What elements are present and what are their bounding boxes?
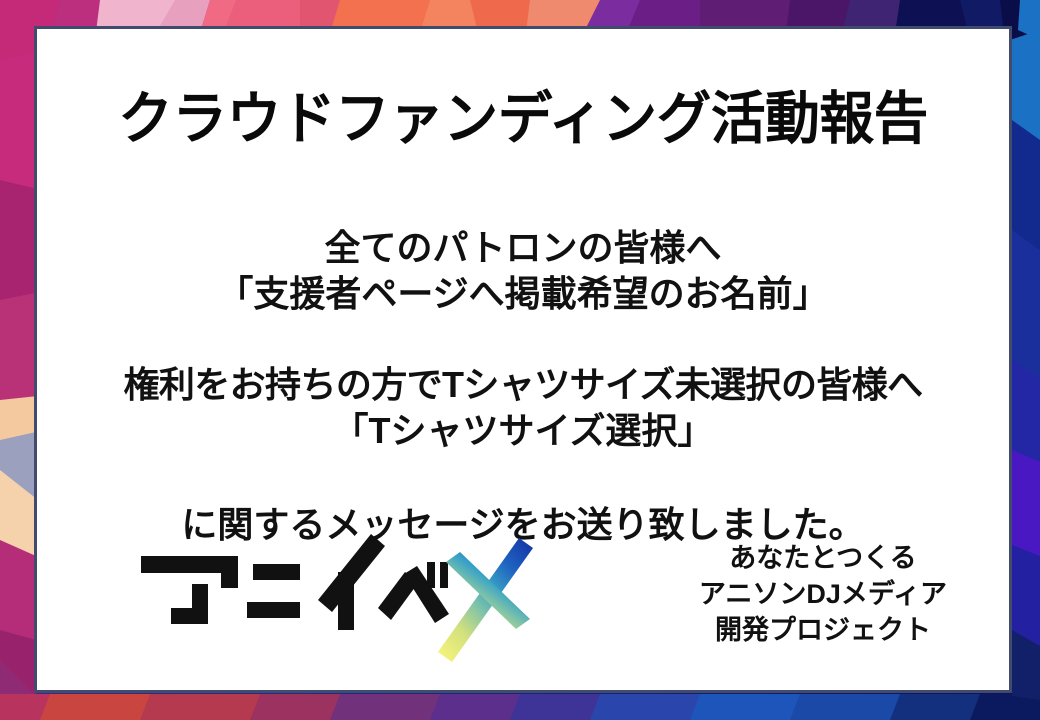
paragraph-1-line-2: 「支援者ページへ掲載希望のお名前」 [37,271,1009,317]
anime-ive-logo-icon [133,522,563,662]
slide-card: クラウドファンディング活動報告 全てのパトロンの皆様へ 「支援者ページへ掲載希望… [34,26,1012,693]
paragraph-2-line-1: 権利をお持ちの方でTシャツサイズ未選択の皆様へ [37,362,1009,408]
project-tagline: あなたとつくる アニソンDJメディア 開発プロジェクト [699,540,947,648]
page-title: クラウドファンディング活動報告 [56,91,989,148]
paragraph-1-line-1: 全てのパトロンの皆様へ [37,225,1009,271]
card-content: クラウドファンディング活動報告 全てのパトロンの皆様へ 「支援者ページへ掲載希望… [37,29,1009,690]
paragraph-patrons: 全てのパトロンの皆様へ 「支援者ページへ掲載希望のお名前」 [37,225,1009,317]
tagline-line-3: 開発プロジェクト [699,612,947,648]
paragraph-2-line-2: 「Tシャツサイズ選択」 [37,408,1009,454]
brand-logo [133,522,563,662]
tagline-line-2: アニソンDJメディア [699,576,947,612]
body-text-block: 全てのパトロンの皆様へ 「支援者ページへ掲載希望のお名前」 権利をお持ちの方でT… [37,225,1009,548]
card-footer: あなたとつくる アニソンDJメディア 開発プロジェクト [37,526,1009,666]
tagline-line-1: あなたとつくる [699,540,947,576]
slide-canvas: クラウドファンディング活動報告 全てのパトロンの皆様へ 「支援者ページへ掲載希望… [0,0,1040,720]
paragraph-tshirt: 権利をお持ちの方でTシャツサイズ未選択の皆様へ 「Tシャツサイズ選択」 [37,362,1009,454]
